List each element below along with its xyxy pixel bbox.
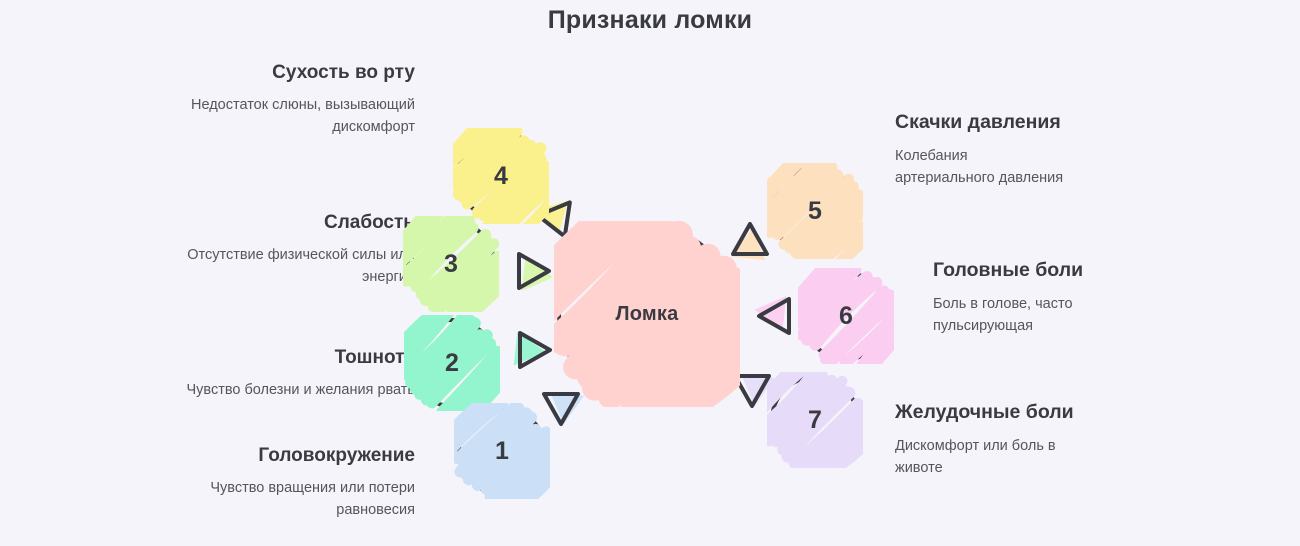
- text-block-blood-pressure: Скачки давления Колебания артериального …: [895, 110, 1145, 189]
- text-block-dry-mouth: Сухость во рту Недостаток слюны, вызываю…: [165, 60, 415, 138]
- node-3-weakness[interactable]: 3: [406, 219, 496, 309]
- text-block-description: Колебания артериального давления: [895, 145, 1070, 189]
- text-block-headache: Головные боли Боль в голове, часто пульс…: [933, 258, 1183, 337]
- node-number: 5: [808, 197, 822, 226]
- text-block-title: Сухость во рту: [165, 60, 415, 85]
- node-number: 7: [808, 406, 822, 435]
- text-block-description: Боль в голове, часто пульсирующая: [933, 293, 1108, 337]
- arrow-triangle-1-icon: [538, 385, 584, 431]
- page-title: Признаки ломки: [0, 6, 1300, 35]
- arrow-triangle-7-icon: [729, 367, 775, 413]
- text-block-description: Чувство болезни и желания рвать: [165, 379, 415, 401]
- text-block-title: Головокружение: [165, 443, 415, 468]
- text-block-title: Желудочные боли: [895, 400, 1145, 426]
- node-number: 2: [445, 349, 459, 378]
- text-block-title: Скачки давления: [895, 110, 1145, 136]
- text-block-title: Головные боли: [933, 258, 1183, 284]
- text-block-description: Чувство вращения или потери равновесия: [165, 477, 415, 521]
- infographic-canvas: Признаки ломки Сухость во рту Недостаток…: [0, 0, 1300, 546]
- text-block-description: Отсутствие физической силы или энергии: [165, 244, 415, 288]
- node-5-blood-pressure[interactable]: 5: [770, 166, 860, 256]
- arrow-triangle-3-icon: [510, 248, 556, 294]
- text-block-weakness: Слабость Отсутствие физической силы или …: [165, 210, 415, 288]
- node-6-headache[interactable]: 6: [801, 271, 891, 361]
- node-4-dry-mouth[interactable]: 4: [456, 131, 546, 221]
- text-block-description: Дискомфорт или боль в животе: [895, 435, 1070, 479]
- arrow-triangle-4-icon: [537, 192, 583, 238]
- arrow-triangle-2-icon: [511, 327, 557, 373]
- text-block-nausea: Тошнота Чувство болезни и желания рвать: [165, 345, 415, 401]
- text-block-dizziness: Головокружение Чувство вращения или поте…: [165, 443, 415, 521]
- node-number: 4: [494, 162, 508, 191]
- node-number: 1: [495, 437, 509, 466]
- center-node-label: Ломка: [616, 303, 679, 326]
- arrow-triangle-5-icon: [727, 217, 773, 263]
- text-block-stomach-pain: Желудочные боли Дискомфорт или боль в жи…: [895, 400, 1145, 479]
- node-7-stomach-pain[interactable]: 7: [770, 375, 860, 465]
- node-number: 3: [444, 250, 458, 279]
- text-block-title: Слабость: [165, 210, 415, 235]
- text-block-title: Тошнота: [165, 345, 415, 370]
- text-block-description: Недостаток слюны, вызывающий дискомфорт: [165, 94, 415, 138]
- node-1-dizziness[interactable]: 1: [457, 406, 547, 496]
- node-number: 6: [839, 302, 853, 331]
- arrow-triangle-6-icon: [752, 293, 798, 339]
- node-2-nausea[interactable]: 2: [407, 318, 497, 408]
- center-node-withdrawal[interactable]: Ломка: [557, 224, 737, 404]
